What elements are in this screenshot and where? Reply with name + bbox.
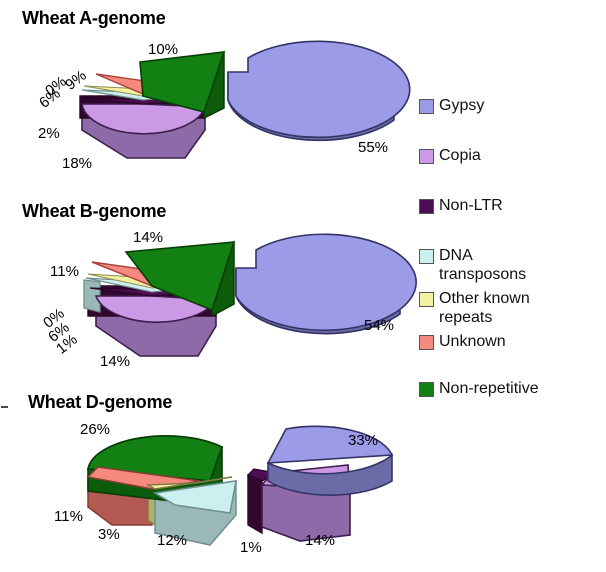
pie-a-gypsy-slice <box>228 41 410 140</box>
pct-d-copia: 14% <box>305 533 335 548</box>
legend-item-other-known-repeats[interactable]: Other known repeats <box>419 289 606 327</box>
legend-label-non-repetitive: Non-repetitive <box>439 379 539 398</box>
left-edge-artifact <box>1 406 8 408</box>
chart-wheat-b-genome: Wheat B-genome 1 <box>0 192 420 385</box>
legend-item-unknown[interactable]: Unknown <box>419 332 606 351</box>
legend-swatch-non-ltr <box>419 199 434 214</box>
legend-item-dna-transposons[interactable]: DNA transposons <box>419 246 606 284</box>
pie-b-left-cluster <box>84 242 234 356</box>
legend-swatch-other-known-repeats <box>419 292 434 307</box>
chart-wheat-d-genome: Wheat D-genome <box>0 385 420 572</box>
legend-label-unknown: Unknown <box>439 332 506 351</box>
legend-label-gypsy: Gypsy <box>439 96 484 115</box>
pct-b-unknown: 11% <box>50 264 79 279</box>
pct-d-gypsy: 33% <box>348 433 378 448</box>
pct-d-non-ltr: 1% <box>240 540 262 555</box>
legend-swatch-non-repetitive <box>419 382 434 397</box>
legend-label-other-known-repeats: Other known repeats <box>439 289 569 327</box>
pct-a-non-ltr: 2% <box>38 126 60 141</box>
legend: Gypsy Copia Non-LTR DNA transposons Othe… <box>419 96 606 402</box>
pct-d-other: 3% <box>98 527 120 542</box>
legend-swatch-dna-transposons <box>419 249 434 264</box>
pct-d-non-repetitive: 26% <box>80 422 110 437</box>
legend-item-gypsy[interactable]: Gypsy <box>419 96 606 115</box>
legend-item-non-ltr[interactable]: Non-LTR <box>419 196 606 215</box>
legend-swatch-gypsy <box>419 99 434 114</box>
pct-d-unknown: 11% <box>54 509 83 524</box>
pct-b-gypsy: 54% <box>364 318 394 333</box>
legend-label-dna-transposons: DNA transposons <box>439 246 559 284</box>
legend-label-copia: Copia <box>439 146 481 165</box>
legend-swatch-copia <box>419 149 434 164</box>
pct-b-non-repetitive: 14% <box>133 230 163 245</box>
pct-b-copia: 14% <box>100 354 130 369</box>
pct-d-dna: 12% <box>157 533 187 548</box>
legend-item-copia[interactable]: Copia <box>419 146 606 165</box>
pct-a-non-repetitive: 10% <box>148 42 178 57</box>
pct-a-gypsy: 55% <box>358 140 388 155</box>
legend-label-non-ltr: Non-LTR <box>439 196 503 215</box>
pie-a-left-cluster <box>80 52 224 158</box>
legend-item-non-repetitive[interactable]: Non-repetitive <box>419 379 606 398</box>
legend-swatch-unknown <box>419 335 434 350</box>
chart-wheat-a-genome: Wheat A-genome 10% <box>0 0 420 192</box>
pct-a-copia: 18% <box>62 156 92 171</box>
pie-graphic-d <box>0 385 420 572</box>
